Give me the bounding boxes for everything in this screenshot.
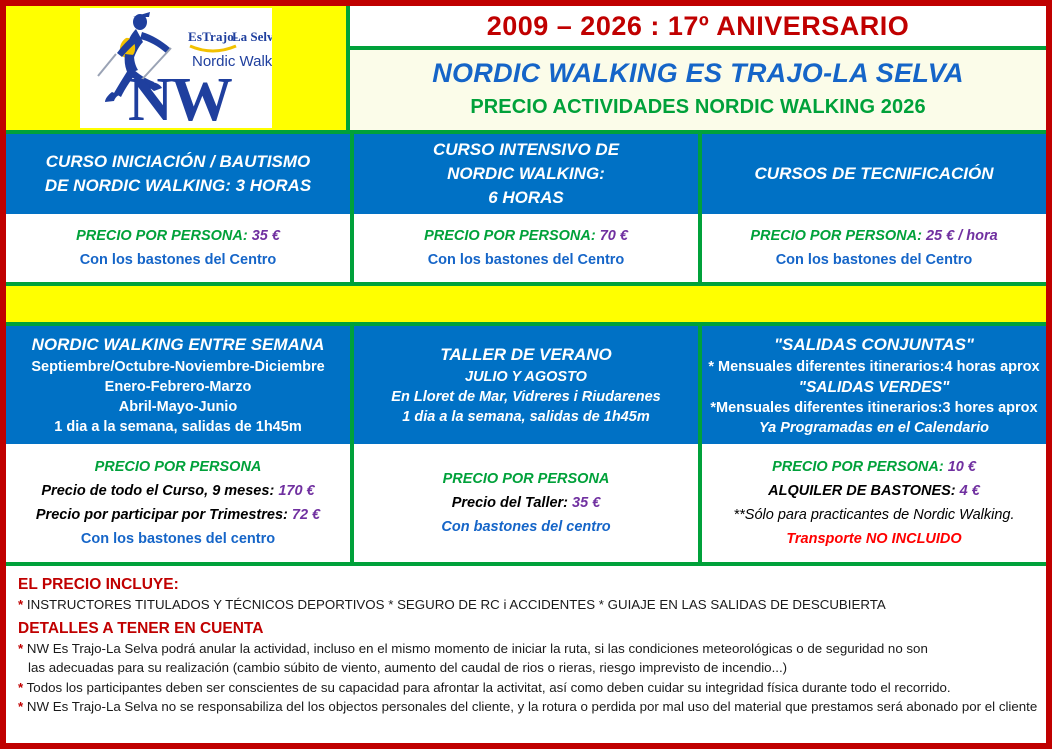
card-header: CURSOS DE TECNIFICACIÓN [702,134,1046,214]
card-sub-line: Enero-Febrero-Marzo [12,377,344,397]
card-title-line: DE NORDIC WALKING: 3 HORAS [12,174,344,198]
card-header: "SALIDAS CONJUNTAS" * Mensuales diferent… [702,326,1046,444]
itinerary-duration: 4 horas aprox [945,359,1040,375]
card-sub-line: 1 dia a la semana, salidas de 1h45m [12,417,344,437]
card-header: CURSO INTENSIVO DE NORDIC WALKING: 6 HOR… [354,134,698,214]
card-sub-line: *Mensuales diferentes itinerarios:3 hore… [708,398,1040,418]
card-curso-intensivo: CURSO INTENSIVO DE NORDIC WALKING: 6 HOR… [354,134,702,282]
price-label: PRECIO POR PERSONA [6,455,350,479]
price-label: PRECIO POR PERSONA: [750,228,922,244]
card-body: PRECIO POR PERSONA: 70 € Con los bastone… [354,214,698,282]
price-row: Precio de todo el Curso, 9 meses: 170 € [6,479,350,503]
price-poster: EsTrajo- La Selva Nordic Walking NW 2009… [0,0,1052,749]
card-body: PRECIO POR PERSONA Precio del Taller: 35… [354,444,698,562]
card-title-line: CURSO INTENSIVO DE [360,138,692,162]
card-cursos-tecnificacion: CURSOS DE TECNIFICACIÓN PRECIO POR PERSO… [702,134,1046,282]
includes-text: INSTRUCTORES TITULADOS Y TÉCNICOS DEPORT… [27,597,886,612]
bullet-star-icon: * [18,680,23,695]
bullet-star-icon: * [18,699,23,714]
price-row: PRECIO POR PERSONA: 70 € [354,224,698,248]
card-title-line: NORDIC WALKING ENTRE SEMANA [12,333,344,357]
price-row: Precio por participar por Trimestres: 72… [6,503,350,527]
card-entre-semana: NORDIC WALKING ENTRE SEMANA Septiembre/O… [6,326,354,562]
price-label: PRECIO POR PERSONA [354,467,698,491]
detail-item: * Todos los participantes deben ser cons… [18,678,1036,698]
card-taller-verano: TALLER DE VERANO JULIO Y AGOSTO En Llore… [354,326,702,562]
svg-text:EsTrajo-: EsTrajo- [188,29,238,44]
page-title: NORDIC WALKING ES TRAJO-LA SELVA [350,50,1046,93]
card-title-line: CURSO INICIACIÓN / BAUTISMO [12,150,344,174]
price-amount: 35 € [572,495,600,511]
price-detail-label: Precio de todo el Curso, 9 meses: [41,483,274,499]
price-amount: 10 € [948,459,976,475]
sticks-note: Con los bastones del Centro [702,248,1046,272]
includes-line: * INSTRUCTORES TITULADOS Y TÉCNICOS DEPO… [18,595,1036,615]
card-title-line: "SALIDAS CONJUNTAS" [708,333,1040,357]
price-amount: 170 € [278,483,314,499]
details-title: DETALLES A TENER EN CUENTA [18,618,1036,639]
rent-amount: 4 € [960,483,980,499]
price-row: PRECIO POR PERSONA: 25 € / hora [702,224,1046,248]
sticks-note: Con los bastones del centro [6,527,350,551]
card-title-line: "SALIDAS VERDES" [708,377,1040,398]
poster-header: EsTrajo- La Selva Nordic Walking NW 2009… [6,6,1046,134]
logo-box: EsTrajo- La Selva Nordic Walking NW [80,8,272,128]
card-sub-line: * Mensuales diferentes itinerarios:4 hor… [708,357,1040,377]
price-amount: 72 € [292,507,320,523]
itinerary-label: * Mensuales diferentes itinerarios: [708,359,944,375]
anniversary-banner: 2009 – 2026 : 17º ANIVERSARIO [350,6,1046,50]
price-label: PRECIO POR PERSONA: [772,459,944,475]
rent-label: ALQUILER DE BASTONES: [768,483,955,499]
detail-text: NW Es Trajo-La Selva podrá anular la act… [27,641,928,656]
price-amount: 35 € [252,228,280,244]
yellow-divider [6,286,1046,326]
card-salidas: "SALIDAS CONJUNTAS" * Mensuales diferent… [702,326,1046,562]
svg-text:La Selva: La Selva [232,29,272,44]
price-detail-label: Precio por participar por Trimestres: [36,507,288,523]
card-curso-iniciacion: CURSO INICIACIÓN / BAUTISMO DE NORDIC WA… [6,134,354,282]
card-title-line: CURSOS DE TECNIFICACIÓN [708,162,1040,186]
price-amount: 25 € / hora [926,228,998,244]
title-cell: 2009 – 2026 : 17º ANIVERSARIO NORDIC WAL… [346,6,1046,134]
card-body: PRECIO POR PERSONA Precio de todo el Cur… [6,444,350,562]
card-sub-line: En Lloret de Mar, Vidreres i Riudarenes [360,387,692,407]
rent-row: ALQUILER DE BASTONES: 4 € [702,479,1046,503]
logo-cell: EsTrajo- La Selva Nordic Walking NW [6,6,346,134]
page-subtitle: PRECIO ACTIVIDADES NORDIC WALKING 2026 [350,93,1046,121]
price-row: Precio del Taller: 35 € [354,491,698,515]
card-sub-line: JULIO Y AGOSTO [360,367,692,387]
sticks-note: Con bastones del centro [354,515,698,539]
price-row: PRECIO POR PERSONA: 35 € [6,224,350,248]
price-row: PRECIO POR PERSONA: 10 € [702,455,1046,479]
card-sub-line: 1 dia a la semana, salidas de 1h45m [360,407,692,427]
courses-row-2: NORDIC WALKING ENTRE SEMANA Septiembre/O… [6,326,1046,566]
includes-title: EL PRECIO INCLUYE: [18,574,1036,595]
card-body: PRECIO POR PERSONA: 10 € ALQUILER DE BAS… [702,444,1046,562]
itinerary-duration: 3 hores aprox [942,400,1037,416]
bullet-star-icon: * [18,597,23,612]
card-header: NORDIC WALKING ENTRE SEMANA Septiembre/O… [6,326,350,444]
card-header: TALLER DE VERANO JULIO Y AGOSTO En Llore… [354,326,698,444]
transport-warning: Transporte NO INCLUIDO [702,527,1046,551]
nordic-walking-logo-icon: EsTrajo- La Selva Nordic Walking NW [80,8,272,128]
courses-row-1: CURSO INICIACIÓN / BAUTISMO DE NORDIC WA… [6,134,1046,286]
card-sub-line: Abril-Mayo-Junio [12,397,344,417]
card-sub-line: Septiembre/Octubre-Noviembre-Diciembre [12,357,344,377]
card-sub-line: Ya Programadas en el Calendario [708,418,1040,438]
price-label: PRECIO POR PERSONA: [76,228,248,244]
detail-item: * NW Es Trajo-La Selva no se responsabil… [18,697,1036,717]
detail-text: NW Es Trajo-La Selva no se responsabiliz… [27,699,1037,714]
price-amount: 70 € [600,228,628,244]
card-body: PRECIO POR PERSONA: 35 € Con los bastone… [6,214,350,282]
poster-footer: EL PRECIO INCLUYE: * INSTRUCTORES TITULA… [6,566,1046,721]
card-body: PRECIO POR PERSONA: 25 € / hora Con los … [702,214,1046,282]
price-label: PRECIO POR PERSONA: [424,228,596,244]
svg-text:NW: NW [128,66,233,128]
detail-item: * NW Es Trajo-La Selva podrá anular la a… [18,639,1036,659]
card-header: CURSO INICIACIÓN / BAUTISMO DE NORDIC WA… [6,134,350,214]
detail-text: Todos los participantes deben ser consci… [27,680,951,695]
card-title-line: NORDIC WALKING: [360,162,692,186]
bullet-star-icon: * [18,641,23,656]
card-title-line: TALLER DE VERANO [360,343,692,367]
card-title-line: 6 HORAS [360,186,692,210]
detail-continuation: las adecuadas para su realización (cambi… [18,658,1036,678]
sticks-note: Con los bastones del Centro [354,248,698,272]
practitioners-note: **Sólo para practicantes de Nordic Walki… [702,503,1046,527]
sticks-note: Con los bastones del Centro [6,248,350,272]
price-detail-label: Precio del Taller: [452,495,568,511]
itinerary-label: *Mensuales diferentes itinerarios: [710,400,942,416]
